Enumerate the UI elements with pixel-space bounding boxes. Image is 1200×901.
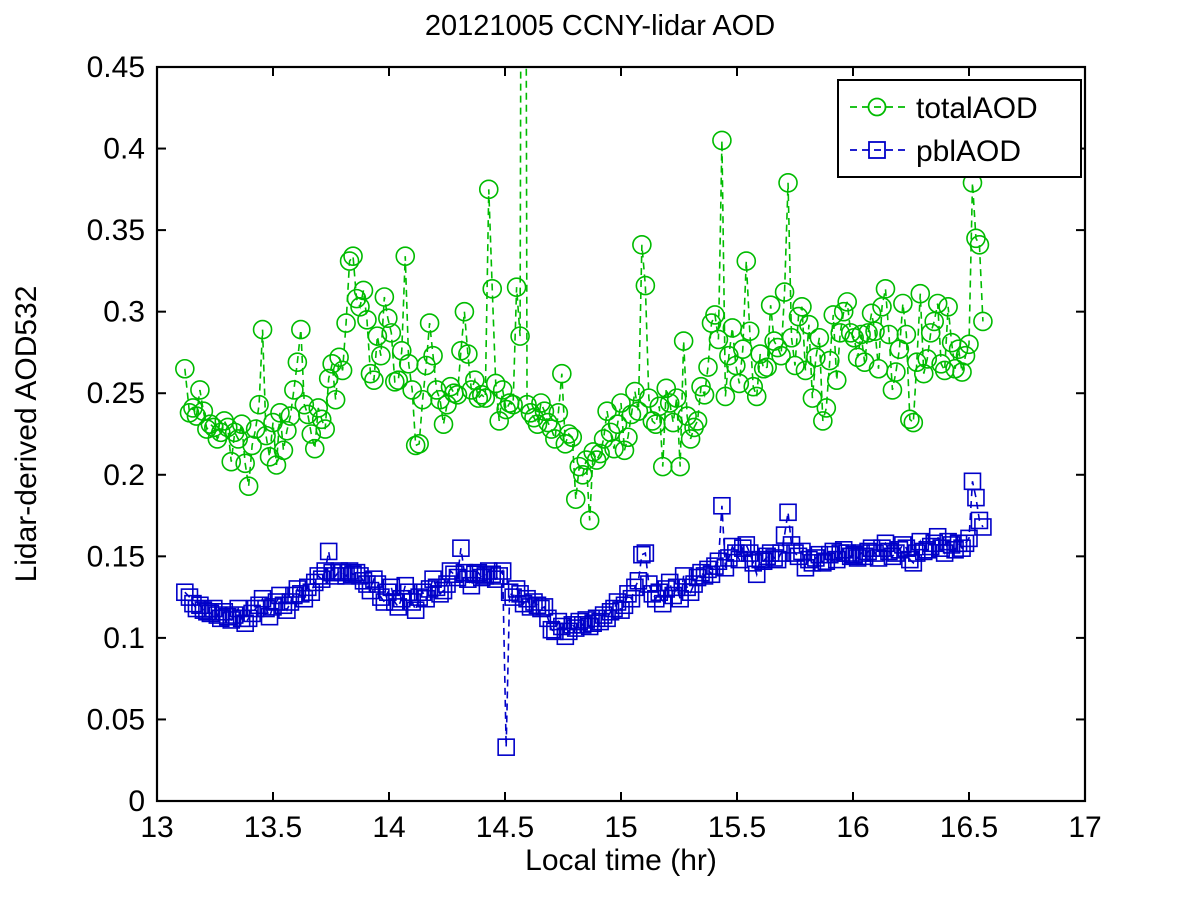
y-tick-label: 0.35 [87, 214, 145, 247]
x-tick-label: 17 [1068, 811, 1101, 844]
chart-legend[interactable]: totalAOD pblAOD [838, 80, 1081, 177]
figure-canvas: 20121005 CCNY-lidar AOD 1313.51414.51515… [0, 0, 1200, 901]
y-axis-title: Lidar-derived AOD532 [10, 286, 43, 583]
x-tick-label: 15 [604, 811, 637, 844]
x-tick-label: 16.5 [940, 811, 998, 844]
legend-label-pblAOD: pblAOD [916, 135, 1021, 168]
y-tick-label: 0.05 [87, 703, 145, 736]
x-tick-label: 16 [836, 811, 869, 844]
x-axis-title: Local time (hr) [525, 844, 717, 877]
chart-plot: 1313.51414.51515.51616.51700.050.10.150.… [0, 0, 1200, 901]
x-tick-label: 13 [140, 811, 173, 844]
x-tick-label: 14 [372, 811, 405, 844]
y-tick-label: 0 [128, 785, 145, 818]
y-tick-label: 0.15 [87, 540, 145, 573]
y-tick-label: 0.45 [87, 51, 145, 84]
x-tick-label: 15.5 [708, 811, 766, 844]
y-tick-label: 0.1 [103, 622, 145, 655]
y-tick-label: 0.4 [103, 133, 145, 166]
x-tick-label: 13.5 [244, 811, 302, 844]
x-tick-label: 14.5 [476, 811, 534, 844]
y-tick-label: 0.3 [103, 296, 145, 329]
y-tick-label: 0.25 [87, 377, 145, 410]
y-tick-label: 0.2 [103, 459, 145, 492]
legend-label-totalAOD: totalAOD [916, 92, 1038, 125]
